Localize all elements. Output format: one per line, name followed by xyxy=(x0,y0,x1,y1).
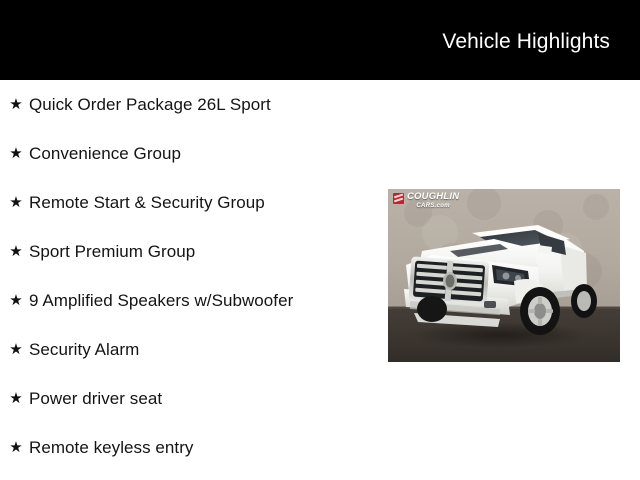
star-icon: ★ xyxy=(9,343,23,357)
list-item-label: Security Alarm xyxy=(29,340,139,360)
list-item-label: Sport Premium Group xyxy=(29,242,195,262)
vehicle-highlights-list: ★ Quick Order Package 26L Sport ★ Conven… xyxy=(0,80,380,472)
star-icon: ★ xyxy=(9,392,23,406)
vehicle-photo-image xyxy=(388,189,620,362)
list-item-label: Convenience Group xyxy=(29,144,181,164)
star-icon: ★ xyxy=(9,441,23,455)
page-title: Vehicle Highlights xyxy=(442,29,610,54)
list-item: ★ Quick Order Package 26L Sport xyxy=(0,80,380,129)
star-icon: ★ xyxy=(9,196,23,210)
vehicle-photo: COUGHLIN CARS.com xyxy=(388,189,620,362)
list-item: ★ 9 Amplified Speakers w/Subwoofer xyxy=(0,276,380,325)
list-item-label: Remote Start & Security Group xyxy=(29,193,265,213)
list-item: ★ Security Alarm xyxy=(0,325,380,374)
list-item: ★ Sport Premium Group xyxy=(0,227,380,276)
list-item-label: 9 Amplified Speakers w/Subwoofer xyxy=(29,291,293,311)
list-item-label: Power driver seat xyxy=(29,389,162,409)
list-item: ★ Remote Start & Security Group xyxy=(0,178,380,227)
header-bar: Vehicle Highlights xyxy=(0,0,640,80)
list-item-label: Remote keyless entry xyxy=(29,438,193,458)
list-item: ★ Power driver seat xyxy=(0,374,380,423)
list-item: ★ Remote keyless entry xyxy=(0,423,380,472)
vehicle-highlights-page: Vehicle Highlights ★ Quick Order Package… xyxy=(0,0,640,480)
list-item-label: Quick Order Package 26L Sport xyxy=(29,95,271,115)
star-icon: ★ xyxy=(9,294,23,308)
star-icon: ★ xyxy=(9,98,23,112)
star-icon: ★ xyxy=(9,245,23,259)
list-item: ★ Convenience Group xyxy=(0,129,380,178)
star-icon: ★ xyxy=(9,147,23,161)
